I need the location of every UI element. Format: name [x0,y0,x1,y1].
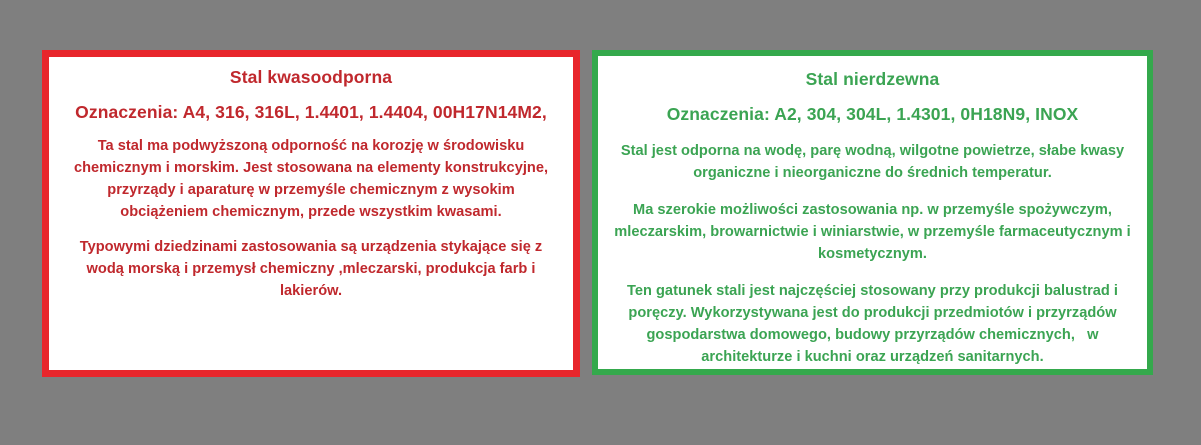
panel-stainless: Stal nierdzewna Oznaczenia: A2, 304, 304… [592,50,1153,375]
panel-acid-resistant-content: Stal kwasoodporna Oznaczenia: A4, 316, 3… [49,57,573,302]
panel-acid-resistant-title: Stal kwasoodporna [71,66,551,89]
panel-stainless-designations: Oznaczenia: A2, 304, 304L, 1.4301, 0H18N… [608,102,1137,127]
panel-acid-resistant-designations: Oznaczenia: A4, 316, 316L, 1.4401, 1.440… [71,100,551,125]
slide-canvas: Stal kwasoodporna Oznaczenia: A4, 316, 3… [0,0,1201,445]
panel-acid-resistant: Stal kwasoodporna Oznaczenia: A4, 316, 3… [42,50,580,377]
panel-stainless-paragraph-1: Stal jest odporna na wodę, parę wodną, w… [608,140,1137,184]
panel-stainless-title: Stal nierdzewna [608,68,1137,91]
panel-acid-resistant-paragraph-1: Ta stal ma podwyższoną odporność na koro… [71,135,551,223]
panel-acid-resistant-paragraph-2: Typowymi dziedzinami zastosowania są urz… [71,236,551,302]
panel-stainless-content: Stal nierdzewna Oznaczenia: A2, 304, 304… [598,56,1147,368]
panel-stainless-paragraph-3: Ten gatunek stali jest najczęściej stoso… [608,280,1137,368]
panel-stainless-paragraph-2: Ma szerokie możliwości zastosowania np. … [608,199,1137,265]
